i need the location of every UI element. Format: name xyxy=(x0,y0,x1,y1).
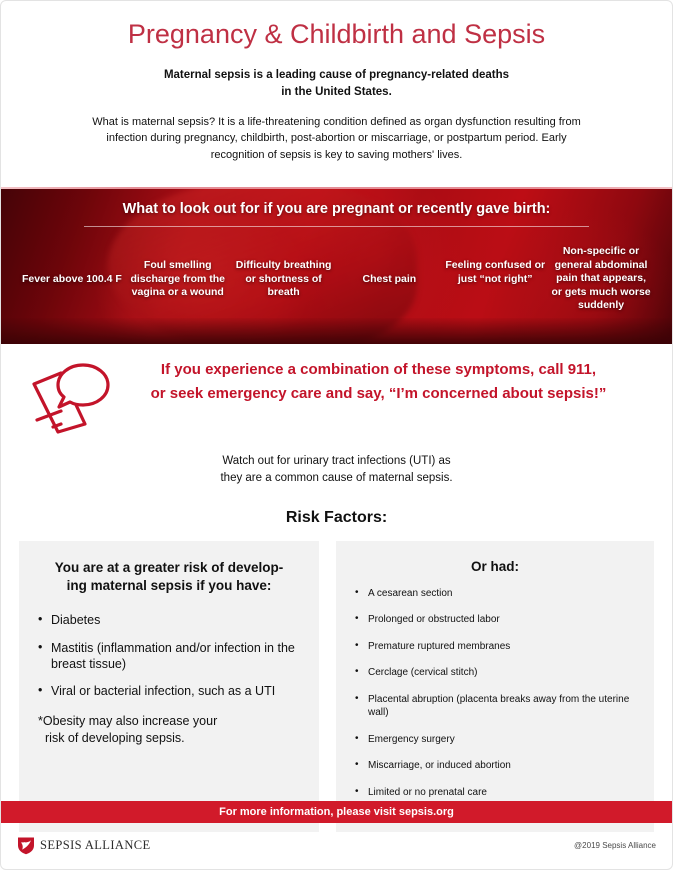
intro-paragraph: What is maternal sepsis? It is a life-th… xyxy=(87,114,587,164)
emergency-text-line1: If you experience a combination of these… xyxy=(115,358,642,381)
list-item: Placental abruption (placenta breaks awa… xyxy=(354,693,636,720)
risk-box-had-title: Or had: xyxy=(354,559,636,574)
symptom-item: Fever above 100.4 F xyxy=(19,273,125,286)
risk-had-list: A cesarean section Prolonged or obstruct… xyxy=(354,587,636,800)
list-item: Prolonged or obstructed labor xyxy=(354,613,636,627)
shield-icon xyxy=(17,836,35,855)
uti-note-line2: they are a common cause of maternal seps… xyxy=(167,470,507,487)
footer-info-bar[interactable]: For more information, please visit sepsi… xyxy=(1,801,672,823)
list-item: Mastitis (inflammation and/or infection … xyxy=(37,640,301,673)
risk-box-had: Or had: A cesarean section Prolonged or … xyxy=(336,541,654,833)
subheadline-line1: Maternal sepsis is a leading cause of pr… xyxy=(122,67,552,83)
emergency-callout: If you experience a combination of these… xyxy=(1,344,672,439)
footer-bar-text: For more information, please visit sepsi… xyxy=(219,806,454,818)
risk-factors-heading: Risk Factors: xyxy=(1,509,672,527)
banner-content: What to look out for if you are pregnant… xyxy=(1,189,672,344)
subheadline-line2: in the United States. xyxy=(122,84,552,100)
symptom-item: Difficulty breathing or shortness of bre… xyxy=(231,259,337,299)
risk-box-have-title-line2: ing maternal sepsis if you have: xyxy=(37,577,301,595)
list-item: Limited or no prenatal care xyxy=(354,786,636,800)
list-item: Premature ruptured membranes xyxy=(354,640,636,654)
uti-note-line1: Watch out for urinary tract infections (… xyxy=(167,453,507,470)
list-item: Cerclage (cervical stitch) xyxy=(354,666,636,680)
list-item: Miscarriage, or induced abortion xyxy=(354,759,636,773)
risk-have-list: Diabetes Mastitis (inflammation and/or i… xyxy=(37,612,301,699)
risk-box-have-title-line1: You are at a greater risk of develop- xyxy=(37,559,301,577)
uti-note: Watch out for urinary tract infections (… xyxy=(167,453,507,486)
subheadline: Maternal sepsis is a leading cause of pr… xyxy=(122,67,552,100)
sepsis-alliance-logo: SEPSIS ALLIANCE xyxy=(17,836,151,855)
list-item: Emergency surgery xyxy=(354,733,636,747)
header-section: Pregnancy & Childbirth and Sepsis Matern… xyxy=(1,1,672,175)
symptom-item: Non-specific or general abdominal pain t… xyxy=(548,245,654,312)
risk-box-have: You are at a greater risk of develop- in… xyxy=(19,541,319,833)
symptom-item: Chest pain xyxy=(336,273,442,286)
symptom-item: Foul smelling discharge from the vagina … xyxy=(125,259,231,299)
copyright-text: @2019 Sepsis Alliance xyxy=(574,841,656,850)
obesity-note-line2: risk of developing sepsis. xyxy=(38,730,301,746)
emergency-text: If you experience a combination of these… xyxy=(115,358,648,405)
symptom-item: Feeling confused or just “not right” xyxy=(442,259,548,286)
obesity-note: *Obesity may also increase your risk of … xyxy=(37,713,301,746)
risk-box-have-title: You are at a greater risk of develop- in… xyxy=(37,559,301,595)
banner-headline: What to look out for if you are pregnant… xyxy=(13,201,660,217)
banner-rule xyxy=(84,226,589,227)
list-item: A cesarean section xyxy=(354,587,636,601)
list-item: Diabetes xyxy=(37,612,301,628)
symptom-list: Fever above 100.4 F Foul smelling discha… xyxy=(13,239,660,312)
risk-factor-boxes: You are at a greater risk of develop- in… xyxy=(1,541,672,833)
footer-row: SEPSIS ALLIANCE @2019 Sepsis Alliance xyxy=(1,827,672,863)
obesity-note-line1: *Obesity may also increase your xyxy=(38,714,217,728)
infographic-page: Pregnancy & Childbirth and Sepsis Matern… xyxy=(0,0,673,870)
logo-text: SEPSIS ALLIANCE xyxy=(40,838,151,853)
symptoms-banner: What to look out for if you are pregnant… xyxy=(1,189,672,344)
phone-speech-bubble-icon xyxy=(23,358,115,439)
list-item: Viral or bacterial infection, such as a … xyxy=(37,683,301,699)
page-title: Pregnancy & Childbirth and Sepsis xyxy=(37,19,636,49)
emergency-text-line2: or seek emergency care and say, “I’m con… xyxy=(115,382,642,405)
